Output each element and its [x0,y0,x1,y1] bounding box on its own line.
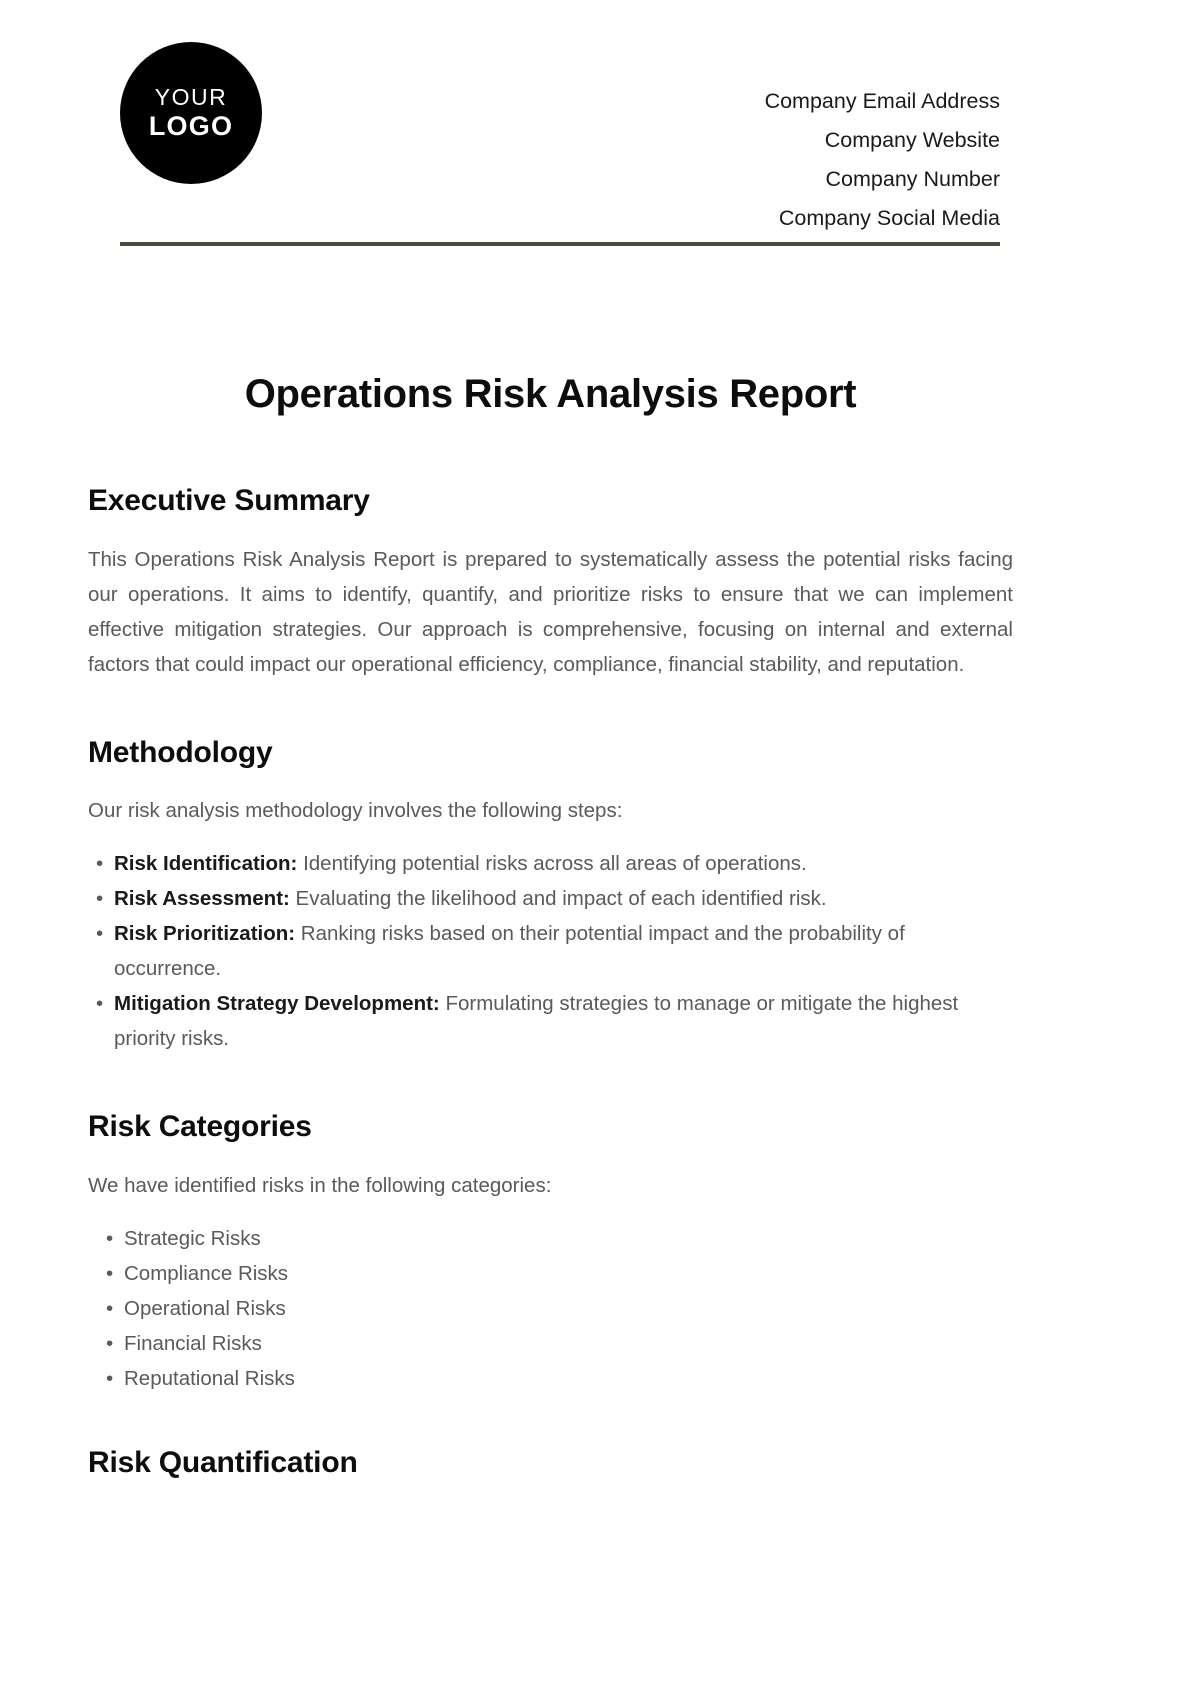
list-item-label: Mitigation Strategy Development: [114,992,440,1015]
list-item-text: Evaluating the likelihood and impact of … [290,887,827,910]
company-logo: YOUR LOGO [120,42,262,184]
company-contact-info: Company Email Address Company Website Co… [765,82,1000,238]
list-item-label: Risk Prioritization: [114,922,295,945]
paragraph-executive-summary: This Operations Risk Analysis Report is … [88,542,1013,682]
section-executive-summary: Executive Summary This Operations Risk A… [88,482,1013,682]
document-content: Operations Risk Analysis Report Executiv… [88,370,1013,1533]
list-item-text: Identifying potential risks across all a… [297,852,806,875]
list-item: Reputational Risks [88,1361,1013,1396]
document-page: YOUR LOGO Company Email Address Company … [0,0,1200,1700]
section-risk-quantification: Risk Quantification [88,1444,1013,1482]
heading-risk-quantification: Risk Quantification [88,1444,1013,1482]
company-website: Company Website [765,121,1000,160]
list-item: Risk Identification: Identifying potenti… [88,846,1013,881]
company-email-address: Company Email Address [765,82,1000,121]
section-methodology: Methodology Our risk analysis methodolog… [88,734,1013,1057]
paragraph-risk-categories-intro: We have identified risks in the followin… [88,1168,1013,1203]
header-divider-rule [120,242,1000,246]
list-item: Operational Risks [88,1291,1013,1326]
list-item-label: Risk Identification: [114,852,297,875]
list-item: Mitigation Strategy Development: Formula… [88,986,1013,1056]
company-number: Company Number [765,160,1000,199]
list-item: Financial Risks [88,1326,1013,1361]
logo-line-logo: LOGO [149,111,233,142]
paragraph-methodology-intro: Our risk analysis methodology involves t… [88,793,1013,828]
list-item: Strategic Risks [88,1221,1013,1256]
list-item-label: Risk Assessment: [114,887,290,910]
list-item: Risk Assessment: Evaluating the likeliho… [88,881,1013,916]
heading-executive-summary: Executive Summary [88,482,1013,520]
heading-methodology: Methodology [88,734,1013,772]
list-item: Risk Prioritization: Ranking risks based… [88,916,1013,986]
list-item: Compliance Risks [88,1256,1013,1291]
list-risk-categories: Strategic Risks Compliance Risks Operati… [88,1221,1013,1396]
heading-risk-categories: Risk Categories [88,1108,1013,1146]
document-header: YOUR LOGO Company Email Address Company … [0,0,1200,250]
list-methodology-steps: Risk Identification: Identifying potenti… [88,846,1013,1056]
page-title: Operations Risk Analysis Report [88,370,1013,418]
logo-line-your: YOUR [155,84,227,110]
company-social-media: Company Social Media [765,199,1000,238]
section-risk-categories: Risk Categories We have identified risks… [88,1108,1013,1396]
